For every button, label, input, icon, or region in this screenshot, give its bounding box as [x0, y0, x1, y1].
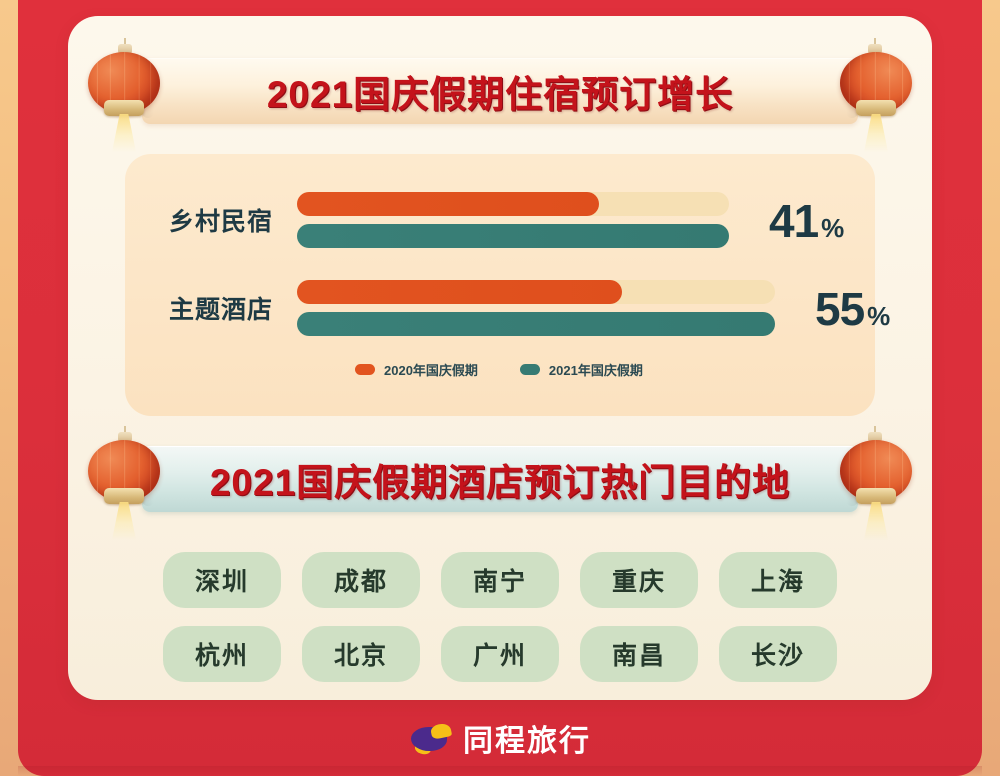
- lantern-icon: [82, 38, 164, 156]
- brand-name: 同程旅行: [463, 716, 591, 760]
- chart-row: 主题酒店 55 %: [169, 272, 851, 344]
- destination-chip[interactable]: 成都: [302, 552, 420, 608]
- content-card: 2021国庆假期住宿预订增长 乡村民宿: [68, 16, 932, 700]
- bar-track-2021: [297, 224, 729, 248]
- destination-chip[interactable]: 南宁: [441, 552, 559, 608]
- bar-fill-2020: [297, 192, 599, 216]
- legend-label: 2021年国庆假期: [549, 360, 643, 379]
- growth-chart-card: 乡村民宿 41 % 主题酒店: [125, 154, 875, 416]
- lantern-gold-band: [104, 488, 144, 504]
- poster-root: 2021国庆假期住宿预订增长 乡村民宿: [0, 0, 1000, 776]
- lantern-icon: [836, 426, 918, 544]
- bird-logo-icon: [409, 723, 453, 753]
- lantern-gold-band: [856, 488, 896, 504]
- legend-item-2020: 2020年国庆假期: [355, 360, 478, 379]
- lantern-tassel: [112, 114, 136, 152]
- chart-row: 乡村民宿 41 %: [169, 184, 851, 256]
- bar-track-2020: [297, 192, 729, 216]
- chart-row-label: 主题酒店: [169, 290, 297, 326]
- destination-chip[interactable]: 广州: [441, 626, 559, 682]
- bar-track-2021: [297, 312, 775, 336]
- growth-number: 55: [815, 286, 864, 332]
- growth-value: 41 %: [769, 198, 844, 244]
- bar-track-2020: [297, 280, 775, 304]
- lantern-gold-band: [856, 100, 896, 116]
- footer-brand: 同程旅行: [18, 700, 982, 776]
- bird-wing: [430, 722, 452, 740]
- destination-chip[interactable]: 北京: [302, 626, 420, 682]
- chart-row-label: 乡村民宿: [169, 202, 297, 238]
- section1-title: 2021国庆假期住宿预订增长: [142, 58, 858, 124]
- bar-fill-2020: [297, 280, 622, 304]
- destination-chip[interactable]: 杭州: [163, 626, 281, 682]
- growth-value: 55 %: [815, 286, 890, 332]
- lantern-icon: [82, 426, 164, 544]
- lantern-icon: [836, 38, 918, 156]
- section1-banner: 2021国庆假期住宿预订增长: [90, 52, 910, 130]
- destination-chip[interactable]: 重庆: [580, 552, 698, 608]
- bar-fill-2021: [297, 224, 729, 248]
- growth-number: 41: [769, 198, 818, 244]
- lantern-tassel: [864, 502, 888, 540]
- chart-row-bars: [297, 192, 729, 248]
- destination-list: 深圳 成都 南宁 重庆 上海 杭州 北京 广州 南昌 长沙: [118, 552, 882, 700]
- destination-chip[interactable]: 南昌: [580, 626, 698, 682]
- legend-swatch-icon: [520, 364, 540, 375]
- section2-title: 2021国庆假期酒店预订热门目的地: [142, 446, 858, 512]
- destination-row-1: 深圳 成都 南宁 重庆 上海: [118, 552, 882, 608]
- chart-legend: 2020年国庆假期 2021年国庆假期: [355, 360, 643, 379]
- chart-row-bars: [297, 280, 775, 336]
- bar-fill-2021: [297, 312, 775, 336]
- growth-percent-sign: %: [867, 303, 890, 332]
- lantern-tassel: [864, 114, 888, 152]
- destination-row-2: 杭州 北京 广州 南昌 长沙: [118, 626, 882, 682]
- section2-banner: 2021国庆假期酒店预订热门目的地: [90, 440, 910, 518]
- legend-swatch-icon: [355, 364, 375, 375]
- legend-item-2021: 2021年国庆假期: [520, 360, 643, 379]
- legend-label: 2020年国庆假期: [384, 360, 478, 379]
- destination-chip[interactable]: 上海: [719, 552, 837, 608]
- destination-chip[interactable]: 深圳: [163, 552, 281, 608]
- lantern-gold-band: [104, 100, 144, 116]
- destination-chip[interactable]: 长沙: [719, 626, 837, 682]
- lantern-tassel: [112, 502, 136, 540]
- growth-percent-sign: %: [821, 215, 844, 244]
